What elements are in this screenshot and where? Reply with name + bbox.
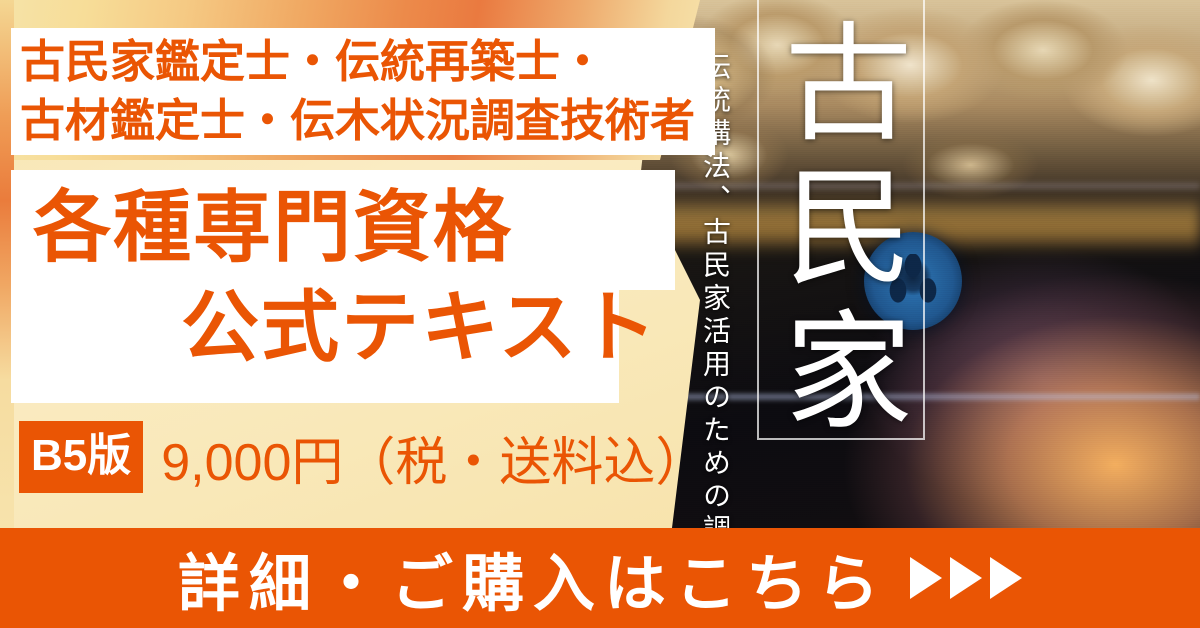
- triangle-right-icon: [950, 557, 982, 599]
- cta-label: 詳細・ご購入はこちら: [178, 533, 888, 623]
- main-headline: 各種専門資格 公式テキスト: [11, 178, 675, 378]
- certifications-text: 古民家鑑定士・伝統再築士・ 古材鑑定士・伝木状況調査技術者: [20, 33, 720, 150]
- cta-bar[interactable]: 詳細・ご購入はこちら: [0, 528, 1200, 628]
- certification-line-2: 古材鑑定士・伝木状況調査技術者: [20, 92, 720, 151]
- headline-line-2: 公式テキスト: [11, 278, 675, 378]
- headline-line-1: 各種専門資格: [11, 178, 675, 278]
- triangle-right-icon: [910, 557, 942, 599]
- price-row: B5版 9,000円（税・送料込）: [19, 421, 707, 493]
- book-cover-title: 古民家: [772, 16, 900, 448]
- price-amount: 9,000円（税・送料込）: [161, 420, 707, 495]
- triangle-right-icon: [990, 557, 1022, 599]
- cta-arrows: [910, 557, 1022, 599]
- certification-line-1: 古民家鑑定士・伝統再築士・: [20, 33, 720, 92]
- size-badge: B5版: [19, 421, 143, 493]
- promotional-banner: 伝統構法、古民家活用のための調査と再生の 古民家 古民家鑑定士・伝統再築士・ 古…: [0, 0, 1200, 628]
